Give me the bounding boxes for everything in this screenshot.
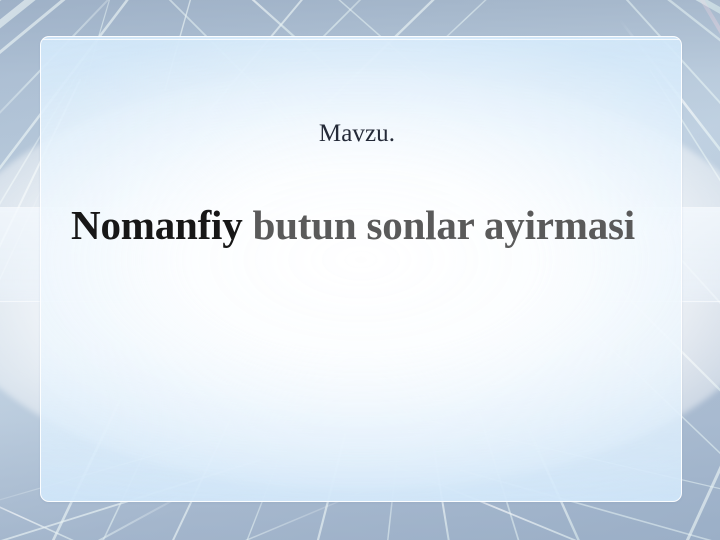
slide-subtitle: Mavzu. (0, 120, 714, 148)
slide-title: Nomanfiy butun sonlar ayirmasi (0, 203, 706, 249)
slide-title-remainder: butun sonlar ayirmasi (243, 202, 635, 248)
slide-title-emphasis: Nomanfiy (71, 202, 243, 248)
presentation-slide: Mavzu. Nomanfiy butun sonlar ayirmasi (0, 0, 720, 540)
content-panel (40, 36, 682, 502)
